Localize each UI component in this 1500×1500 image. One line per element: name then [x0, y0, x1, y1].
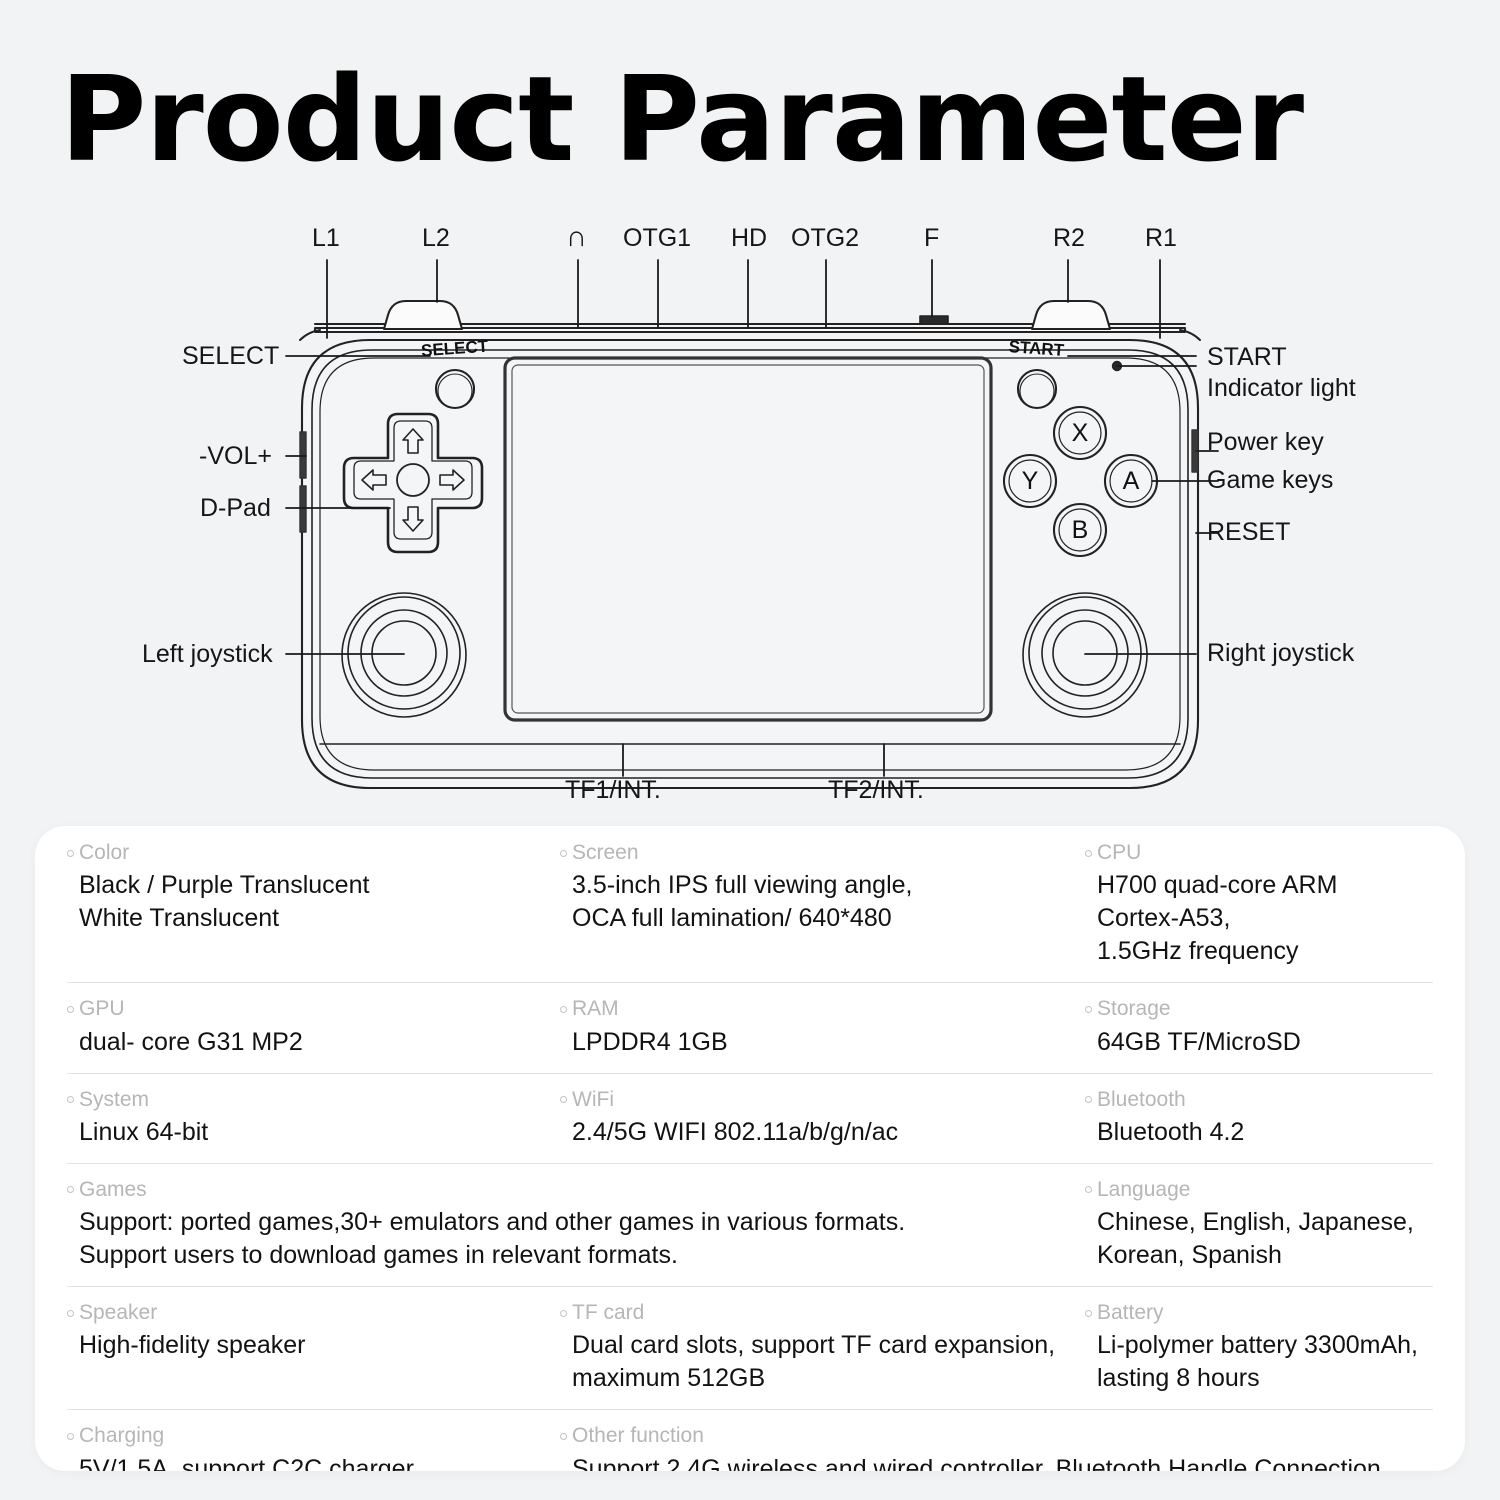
bullet-icon [1085, 1310, 1092, 1317]
diagram-label-r1: R1 [1145, 224, 1177, 253]
bullet-icon [560, 1096, 567, 1103]
bullet-icon [1085, 1096, 1092, 1103]
spec-cell-games: Games Support: ported games,30+ emulator… [35, 1163, 1085, 1286]
spec-value: 3.5-inch IPS full viewing angle, OCA ful… [560, 869, 1075, 935]
spec-cell-gpu: GPU dual- core G31 MP2 [35, 982, 560, 1072]
table-row: System Linux 64-bit WiFi 2.4/5G WIFI 802… [35, 1073, 1465, 1163]
spec-key: Color [67, 840, 550, 866]
spec-value: Li-polymer battery 3300mAh, lasting 8 ho… [1085, 1329, 1423, 1395]
diagram-label-tf1: TF1/INT. [565, 776, 661, 805]
spec-value: Bluetooth 4.2 [1085, 1116, 1423, 1149]
table-row: Speaker High-fidelity speaker TF card Du… [35, 1286, 1465, 1409]
spec-value: Chinese, English, Japanese, Korean, Span… [1085, 1206, 1423, 1272]
diagram-label-select: SELECT [182, 342, 279, 371]
diagram-label-left-joystick: Left joystick [142, 640, 273, 669]
spec-key-label: RAM [572, 996, 619, 1022]
bullet-icon [67, 1186, 74, 1193]
spec-cell-battery: Battery Li-polymer battery 3300mAh, last… [1085, 1286, 1433, 1409]
bullet-icon [560, 1433, 567, 1440]
spec-value: Black / Purple Translucent White Translu… [67, 869, 550, 935]
diagram-label-f: F [924, 224, 939, 253]
bullet-icon [1085, 1006, 1092, 1013]
diagram-label-l1: L1 [312, 224, 340, 253]
spec-cell-charging: Charging 5V/1.5A, support C2C charger [35, 1409, 560, 1471]
spec-value: Support: ported games,30+ emulators and … [67, 1206, 1075, 1272]
spec-cell-language: Language Chinese, English, Japanese, Kor… [1085, 1163, 1433, 1286]
spec-key: Screen [560, 840, 1075, 866]
spec-cell-other-function: Other function Support 2.4G wireless and… [560, 1409, 1433, 1471]
spec-key-label: GPU [79, 996, 125, 1022]
spec-value: 5V/1.5A, support C2C charger [67, 1453, 550, 1472]
spec-cell-storage: Storage 64GB TF/MicroSD [1085, 982, 1433, 1072]
spec-key: Other function [560, 1423, 1423, 1449]
spec-key: CPU [1085, 840, 1423, 866]
spec-key: Battery [1085, 1300, 1423, 1326]
diagram-label-right-joystick: Right joystick [1207, 639, 1354, 668]
spec-key-label: Bluetooth [1097, 1087, 1186, 1113]
button-label-b: B [1072, 516, 1089, 544]
spec-key-label: Charging [79, 1423, 164, 1449]
spec-key-label: CPU [1097, 840, 1141, 866]
spec-key: Bluetooth [1085, 1087, 1423, 1113]
spec-key-label: Language [1097, 1177, 1190, 1203]
button-label-y: Y [1022, 467, 1039, 495]
spec-value: Linux 64-bit [67, 1116, 550, 1149]
diagram-label-otg1: OTG1 [623, 224, 691, 253]
bullet-icon [67, 1096, 74, 1103]
bullet-icon [560, 1310, 567, 1317]
spec-value: LPDDR4 1GB [560, 1026, 1075, 1059]
spec-value: H700 quad-core ARM Cortex-A53, 1.5GHz fr… [1085, 869, 1423, 968]
shoulder-button-r2 [1032, 301, 1110, 329]
diagram-label-otg2: OTG2 [791, 224, 859, 253]
shoulder-button-r1 [1180, 330, 1200, 340]
spec-key-label: Other function [572, 1423, 704, 1449]
spec-key-label: WiFi [572, 1087, 614, 1113]
diagram-label-r2: R2 [1053, 224, 1085, 253]
headphone-icon: ∩ [566, 221, 587, 254]
diagram-label-tf2: TF2/INT. [828, 776, 924, 805]
bullet-icon [560, 1006, 567, 1013]
diagram-label-game-keys: Game keys [1207, 466, 1333, 495]
table-row: GPU dual- core G31 MP2 RAM LPDDR4 1GB St… [35, 982, 1465, 1072]
device-screen [505, 358, 991, 720]
spec-key: WiFi [560, 1087, 1075, 1113]
spec-key-label: TF card [572, 1300, 644, 1326]
diagram-label-dpad: D-Pad [200, 494, 271, 523]
bullet-icon [67, 1310, 74, 1317]
spec-key-label: System [79, 1087, 149, 1113]
spec-value: 64GB TF/MicroSD [1085, 1026, 1423, 1059]
spec-key: Storage [1085, 996, 1423, 1022]
spec-cell-ram: RAM LPDDR4 1GB [560, 982, 1085, 1072]
spec-value: Support 2.4G wireless and wired controll… [560, 1453, 1423, 1472]
spec-value: 2.4/5G WIFI 802.11a/b/g/n/ac [560, 1116, 1075, 1149]
bullet-icon [67, 850, 74, 857]
spec-value: High-fidelity speaker [67, 1329, 550, 1362]
silkscreen-start: START [1008, 337, 1065, 360]
spec-cell-speaker: Speaker High-fidelity speaker [35, 1286, 560, 1409]
spec-key: GPU [67, 996, 550, 1022]
shoulder-button-l1 [300, 330, 320, 340]
diagram-label-hd: HD [731, 224, 767, 253]
spec-key-label: Storage [1097, 996, 1171, 1022]
spec-cell-screen: Screen 3.5-inch IPS full viewing angle, … [560, 826, 1085, 982]
spec-cell-bluetooth: Bluetooth Bluetooth 4.2 [1085, 1073, 1433, 1163]
bullet-icon [67, 1006, 74, 1013]
diagram-label-volume: -VOL+ [199, 442, 272, 471]
spec-key-label: Games [79, 1177, 147, 1203]
spec-key: Games [67, 1177, 1075, 1203]
spec-cell-color: Color Black / Purple Translucent White T… [35, 826, 560, 982]
spec-key-label: Battery [1097, 1300, 1164, 1326]
table-row: Charging 5V/1.5A, support C2C charger Ot… [35, 1409, 1465, 1471]
spec-table-card: Color Black / Purple Translucent White T… [35, 826, 1465, 1471]
spec-key: System [67, 1087, 550, 1113]
spec-key-label: Color [79, 840, 129, 866]
table-row: Color Black / Purple Translucent White T… [35, 826, 1465, 982]
diagram-label-indicator-light: Indicator light [1207, 374, 1356, 403]
spec-key: Speaker [67, 1300, 550, 1326]
diagram-label-start: START [1207, 343, 1287, 372]
spec-cell-system: System Linux 64-bit [35, 1073, 560, 1163]
spec-key-label: Screen [572, 840, 639, 866]
spec-key: TF card [560, 1300, 1075, 1326]
bullet-icon [1085, 850, 1092, 857]
spec-key: Language [1085, 1177, 1423, 1203]
table-row: Games Support: ported games,30+ emulator… [35, 1163, 1465, 1286]
diagram-label-reset: RESET [1207, 518, 1290, 547]
page-title: Product Parameter [60, 58, 1303, 182]
spec-key: Charging [67, 1423, 550, 1449]
bullet-icon [560, 850, 567, 857]
spec-value: dual- core G31 MP2 [67, 1026, 550, 1059]
shoulder-button-l2 [384, 301, 462, 329]
bullet-icon [67, 1433, 74, 1440]
spec-cell-tf-card: TF card Dual card slots, support TF card… [560, 1286, 1085, 1409]
device-diagram: SELECT START X Y A B L1 L2 ∩ OTG1 HD OTG… [0, 220, 1500, 820]
button-label-x: X [1072, 419, 1089, 447]
spec-cell-cpu: CPU H700 quad-core ARM Cortex-A53, 1.5GH… [1085, 826, 1433, 982]
spec-key-label: Speaker [79, 1300, 157, 1326]
bullet-icon [1085, 1186, 1092, 1193]
button-label-a: A [1123, 467, 1140, 495]
diagram-label-l2: L2 [422, 224, 450, 253]
diagram-label-power-key: Power key [1207, 428, 1324, 457]
spec-value: Dual card slots, support TF card expansi… [560, 1329, 1075, 1395]
spec-key: RAM [560, 996, 1075, 1022]
spec-cell-wifi: WiFi 2.4/5G WIFI 802.11a/b/g/n/ac [560, 1073, 1085, 1163]
